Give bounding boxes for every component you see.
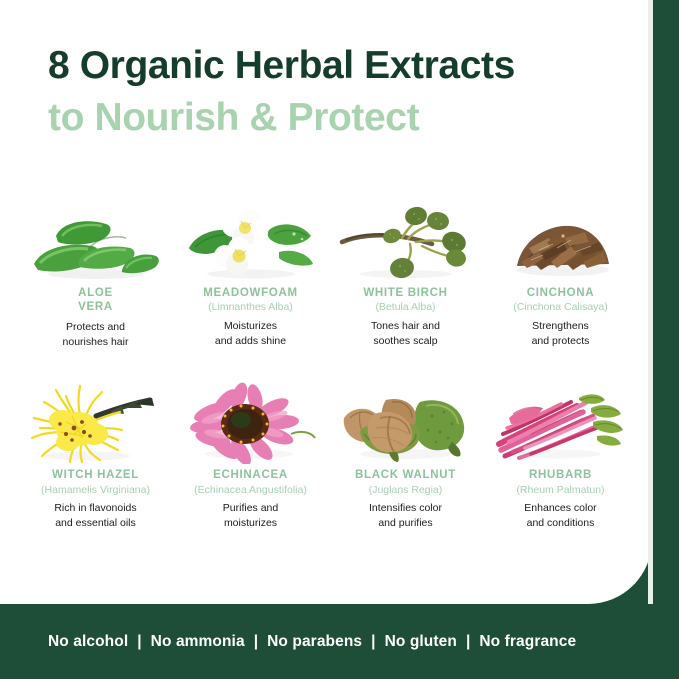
- herb-desc-line1: Purifies and: [223, 502, 278, 514]
- claim-separator: |: [137, 633, 141, 651]
- herb-name-aloe-vera: ALOE VERA: [78, 286, 113, 315]
- herb-desc-witch-hazel: Rich in flavonoids and essential oils: [54, 501, 136, 531]
- claim-separator: |: [466, 633, 470, 651]
- herb-desc-line2: and protects: [532, 335, 590, 347]
- herb-desc-line1: Rich in flavonoids: [54, 502, 136, 514]
- cinchona-bark-icon: [491, 190, 631, 282]
- echinacea-flower-icon: [181, 372, 321, 464]
- herb-name-cinchona: CINCHONA: [527, 286, 595, 300]
- footer-claims-list: No alcohol | No ammonia | No parabens | …: [48, 633, 576, 651]
- herb-desc-line2: and purifies: [378, 517, 432, 529]
- herb-card-echinacea: ECHINACEA (Echinacea Angustifolia) Purif…: [173, 372, 328, 531]
- footer-claim-no-ammonia: No ammonia: [151, 633, 245, 651]
- black-walnut-nuts-icon: [336, 372, 476, 464]
- herb-grid: ALOE VERA Protects and nourishes hair: [18, 190, 638, 532]
- herb-desc-line2: and adds shine: [215, 335, 286, 347]
- herb-name-white-birch: WHITE BIRCH: [363, 286, 447, 300]
- herb-card-aloe-vera: ALOE VERA Protects and nourishes hair: [18, 190, 173, 350]
- herb-latin-witch-hazel: (Hamamelis Virginiana): [41, 484, 150, 498]
- herb-desc-line1: Tones hair and: [371, 320, 440, 332]
- witch-hazel-flower-icon: [26, 372, 166, 464]
- herb-latin-echinacea: (Echinacea Angustifolia): [194, 484, 307, 498]
- herb-name-line1: ALOE: [78, 287, 113, 299]
- rhubarb-stalks-icon: [491, 372, 631, 464]
- herb-card-meadowfoam: MEADOWFOAM (Limnanthes Alba) Moisturizes…: [173, 190, 328, 350]
- herb-card-cinchona: CINCHONA (Cinchona Calisaya) Strengthens…: [483, 190, 638, 350]
- herb-desc-meadowfoam: Moisturizes and adds shine: [215, 319, 286, 349]
- herbal-extracts-infographic: 8 Organic Herbal Extracts to Nourish & P…: [0, 0, 679, 679]
- herb-latin-cinchona: (Cinchona Calisaya): [513, 301, 608, 315]
- herb-desc-black-walnut: Intensifies color and purifies: [369, 501, 442, 531]
- herb-latin-rhubarb: (Rheum Palmatun): [516, 484, 604, 498]
- panel-edge-strip: [648, 0, 653, 604]
- herb-desc-rhubarb: Enhances color and conditions: [524, 501, 596, 531]
- herb-desc-line2: and conditions: [527, 517, 595, 529]
- footer-bar: No alcohol | No ammonia | No parabens | …: [0, 604, 679, 679]
- herb-card-witch-hazel: WITCH HAZEL (Hamamelis Virginiana) Rich …: [18, 372, 173, 531]
- herb-desc-line1: Intensifies color: [369, 502, 442, 514]
- herb-desc-line2: and essential oils: [55, 517, 136, 529]
- herb-desc-line2: soothes scalp: [373, 335, 437, 347]
- herb-desc-cinchona: Strengthens and protects: [532, 319, 590, 349]
- herb-desc-echinacea: Purifies and moisturizes: [223, 501, 278, 531]
- claim-separator: |: [371, 633, 375, 651]
- herb-card-black-walnut: BLACK WALNUT (Juglans Regia) Intensifies…: [328, 372, 483, 531]
- herb-desc-line1: Protects and: [66, 321, 125, 333]
- footer-claim-no-alcohol: No alcohol: [48, 633, 128, 651]
- meadowfoam-flower-icon: [181, 190, 321, 282]
- claim-separator: |: [254, 633, 258, 651]
- herb-name-rhubarb: RHUBARB: [529, 468, 592, 482]
- page-header: 8 Organic Herbal Extracts to Nourish & P…: [48, 44, 618, 142]
- herb-name-meadowfoam: MEADOWFOAM: [203, 286, 298, 300]
- herb-latin-black-walnut: (Juglans Regia): [369, 484, 443, 498]
- aloe-vera-leaves-icon: [26, 190, 166, 282]
- herb-desc-line1: Strengthens: [532, 320, 589, 332]
- herb-latin-meadowfoam: (Limnanthes Alba): [208, 301, 293, 315]
- herb-name-echinacea: ECHINACEA: [213, 468, 288, 482]
- herb-latin-white-birch: (Betula Alba): [375, 301, 435, 315]
- herb-desc-aloe-vera: Protects and nourishes hair: [63, 320, 129, 350]
- herb-name-black-walnut: BLACK WALNUT: [355, 468, 456, 482]
- herb-card-rhubarb: RHUBARB (Rheum Palmatun) Enhances color …: [483, 372, 638, 531]
- page-title-primary: 8 Organic Herbal Extracts: [48, 44, 618, 89]
- footer-claim-no-gluten: No gluten: [385, 633, 457, 651]
- herb-name-witch-hazel: WITCH HAZEL: [52, 468, 139, 482]
- footer-claim-no-fragrance: No fragrance: [479, 633, 576, 651]
- herb-name-line2: VERA: [78, 301, 113, 313]
- herb-desc-line1: Moisturizes: [224, 320, 277, 332]
- herb-desc-line2: nourishes hair: [63, 336, 129, 348]
- herb-card-white-birch: WHITE BIRCH (Betula Alba) Tones hair and…: [328, 190, 483, 350]
- page-title-secondary: to Nourish & Protect: [48, 95, 618, 142]
- footer-claim-no-parabens: No parabens: [267, 633, 362, 651]
- herb-desc-white-birch: Tones hair and soothes scalp: [371, 319, 440, 349]
- herb-desc-line2: moisturizes: [224, 517, 277, 529]
- white-birch-branch-icon: [336, 190, 476, 282]
- herb-desc-line1: Enhances color: [524, 502, 596, 514]
